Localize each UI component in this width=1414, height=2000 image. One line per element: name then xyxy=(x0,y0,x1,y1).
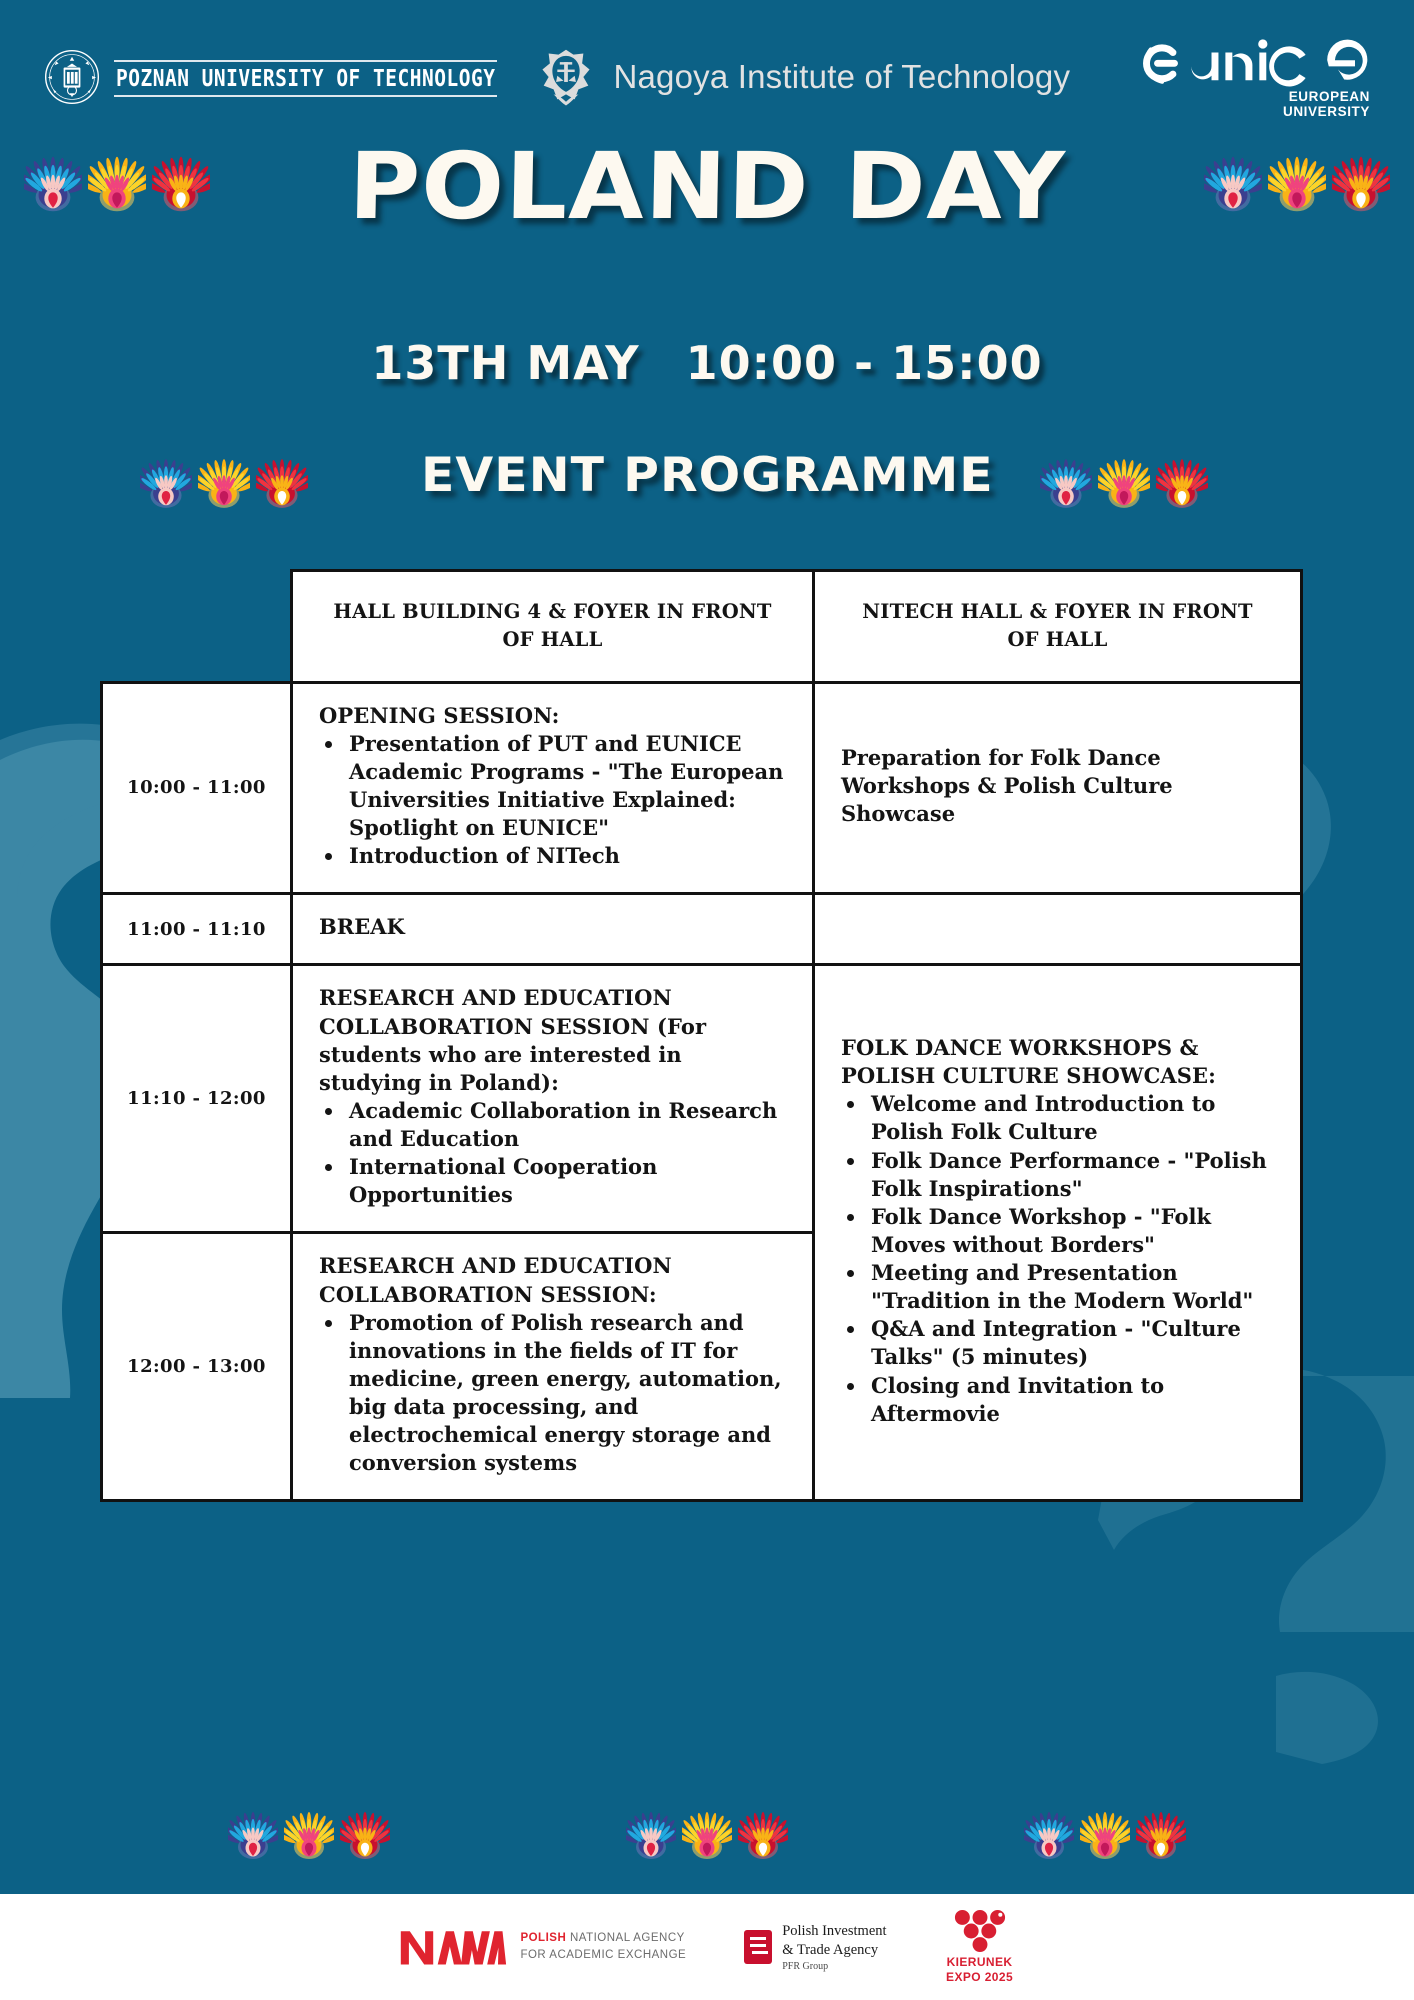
session-cell-nitech-row-3: FOLK DANCE WORKSHOPS & POLISH CULTURE SH… xyxy=(814,965,1302,1501)
expo-label-line-1: KIERUNEK xyxy=(946,1955,1013,1970)
pfr-group-label: PFR Group xyxy=(782,1961,886,1972)
session-cell-hall-4-row-3-heading: RESEARCH AND EDUCATION COLLABORATION SES… xyxy=(319,984,786,1097)
page-title: POLAND DAY xyxy=(348,141,1067,233)
session-cell-hall-4-row-1-bullet-list: Presentation of PUT and EUNICE Academic … xyxy=(345,730,786,871)
eunice-subtitle-line-2: UNIVERSITY xyxy=(1283,105,1370,120)
folk-flower-group-bottom-3 xyxy=(1024,1808,1186,1863)
list-item: Introduction of NITech xyxy=(345,842,786,870)
pfr-name: Polish Investment & Trade Agency xyxy=(782,1922,886,1958)
put-logo-text: POZNAN UNIVERSITY OF TECHNOLOGY xyxy=(114,59,497,98)
session-cell-hall-4-row-2-text: BREAK xyxy=(319,913,786,941)
folk-flower-blue-icon xyxy=(626,1808,676,1863)
folk-flower-yellow-icon xyxy=(284,1808,334,1863)
time-slot-cell: 10:00 - 11:00 xyxy=(102,682,292,894)
nitech-crest-icon xyxy=(535,46,597,108)
programme-table-head: HALL BUILDING 4 & FOYER IN FRONT OF HALL… xyxy=(102,571,1302,683)
logo-kierunek-expo-2025: KIERUNEK EXPO 2025 xyxy=(945,1910,1015,1985)
session-cell-nitech-row-3-bullet-list: Welcome and Introduction to Polish Folk … xyxy=(867,1090,1274,1428)
session-cell-hall-4-row-4-heading: RESEARCH AND EDUCATION COLLABORATION SES… xyxy=(319,1252,786,1308)
hero-subtitle-row: EVENT PROGRAMME xyxy=(0,452,1414,499)
folk-flower-red-icon xyxy=(1136,1808,1186,1863)
pfr-mark-icon xyxy=(744,1930,772,1964)
programme-table: HALL BUILDING 4 & FOYER IN FRONT OF HALL… xyxy=(100,569,1303,1502)
nawa-wordmark-icon xyxy=(399,1925,507,1969)
logo-eunice-european-university: EUROPEAN UNIVERSITY xyxy=(1139,34,1370,119)
nawa-tagline-line-2: FOR ACADEMIC EXCHANGE xyxy=(520,1947,686,1964)
folk-flower-blue-icon xyxy=(1024,1808,1074,1863)
session-cell-hall-4-row-4: RESEARCH AND EDUCATION COLLABORATION SES… xyxy=(292,1233,814,1501)
session-cell-nitech-row-1: Preparation for Folk Dance Workshops & P… xyxy=(814,682,1302,894)
table-row: 10:00 - 11:00OPENING SESSION:Presentatio… xyxy=(102,682,1302,894)
page-subtitle: EVENT PROGRAMME xyxy=(421,452,994,499)
folk-flower-yellow-icon xyxy=(682,1808,732,1863)
list-item: Promotion of Polish research and innovat… xyxy=(345,1309,786,1478)
folk-flower-group-bottom-2 xyxy=(626,1808,788,1863)
pfr-name-line-1: Polish Investment xyxy=(782,1922,886,1940)
session-cell-nitech-row-1-text: Preparation for Folk Dance Workshops & P… xyxy=(841,744,1274,828)
event-date: 13TH MAY xyxy=(371,340,639,386)
session-cell-nitech-row-3-heading: FOLK DANCE WORKSHOPS & POLISH CULTURE SH… xyxy=(841,1034,1274,1090)
expo-label-line-2: EXPO 2025 xyxy=(946,1970,1013,1985)
nawa-tagline-bold: POLISH xyxy=(520,1932,566,1944)
session-cell-hall-4-row-3-bullet-list: Academic Collaboration in Research and E… xyxy=(345,1097,786,1210)
session-cell-hall-4-row-1-heading: OPENING SESSION: xyxy=(319,702,786,730)
table-header-row: HALL BUILDING 4 & FOYER IN FRONT OF HALL… xyxy=(102,571,1302,683)
time-slot-cell: 11:10 - 12:00 xyxy=(102,965,292,1233)
table-header-corner xyxy=(102,571,292,683)
header-logo-bar: POZNAN UNIVERSITY OF TECHNOLOGY Nagoya I… xyxy=(0,34,1414,120)
poster-canvas: POZNAN UNIVERSITY OF TECHNOLOGY Nagoya I… xyxy=(0,0,1414,2000)
event-hours: 10:00 - 15:00 xyxy=(686,340,1043,386)
session-cell-hall-4-row-3: RESEARCH AND EDUCATION COLLABORATION SES… xyxy=(292,965,814,1233)
folk-flower-red-icon xyxy=(340,1808,390,1863)
time-slot-cell: 12:00 - 13:00 xyxy=(102,1233,292,1501)
folk-flower-yellow-icon xyxy=(1080,1808,1130,1863)
folk-flower-group-bottom-1 xyxy=(228,1808,390,1863)
expo-label: KIERUNEK EXPO 2025 xyxy=(946,1955,1013,1985)
column-header-nitech-hall: NITECH HALL & FOYER IN FRONT OF HALL xyxy=(814,571,1302,683)
session-cell-hall-4-row-2: BREAK xyxy=(292,894,814,965)
list-item: Welcome and Introduction to Polish Folk … xyxy=(867,1090,1274,1146)
expo-dots-icon xyxy=(945,1910,1015,1952)
table-row: 11:00 - 11:10BREAK xyxy=(102,894,1302,965)
eunice-subtitle: EUROPEAN UNIVERSITY xyxy=(1283,90,1370,119)
eunice-subtitle-line-1: EUROPEAN xyxy=(1283,90,1370,105)
folk-flower-bottom-band xyxy=(0,1770,1414,1900)
hero-title-row: POLAND DAY xyxy=(0,133,1414,241)
folk-flower-blue-icon xyxy=(228,1808,278,1863)
list-item: Folk Dance Workshop - "Folk Moves withou… xyxy=(867,1203,1274,1259)
list-item: Presentation of PUT and EUNICE Academic … xyxy=(345,730,786,843)
programme-table-body: 10:00 - 11:00OPENING SESSION:Presentatio… xyxy=(102,682,1302,1501)
logo-nawa: POLISH NATIONAL AGENCY FOR ACADEMIC EXCH… xyxy=(399,1925,686,1969)
footer-sponsor-bar: POLISH NATIONAL AGENCY FOR ACADEMIC EXCH… xyxy=(0,1894,1414,2000)
table-row: 11:10 - 12:00RESEARCH AND EDUCATION COLL… xyxy=(102,965,1302,1233)
list-item: Academic Collaboration in Research and E… xyxy=(345,1097,786,1153)
nawa-tagline-rest: NATIONAL AGENCY xyxy=(566,1932,685,1944)
logo-polish-investment-and-trade-agency: Polish Investment & Trade Agency PFR Gro… xyxy=(744,1922,886,1971)
eunice-wordmark xyxy=(1139,34,1370,88)
nawa-tagline: POLISH NATIONAL AGENCY FOR ACADEMIC EXCH… xyxy=(520,1930,686,1963)
logo-poznan-university-of-technology: POZNAN UNIVERSITY OF TECHNOLOGY xyxy=(44,49,497,105)
folk-flower-red-icon xyxy=(738,1808,788,1863)
list-item: Q&A and Integration - "Culture Talks" (5… xyxy=(867,1315,1274,1371)
time-slot-cell: 11:00 - 11:10 xyxy=(102,894,292,965)
put-seal-icon xyxy=(44,49,100,105)
hero-date-row: 13TH MAY 10:00 - 15:00 xyxy=(0,340,1414,386)
logo-nagoya-institute-of-technology: Nagoya Institute of Technology xyxy=(535,46,1070,108)
nawa-tagline-line-1: POLISH NATIONAL AGENCY xyxy=(520,1930,686,1947)
list-item: Closing and Invitation to Aftermovie xyxy=(867,1372,1274,1428)
list-item: Meeting and Presentation "Tradition in t… xyxy=(867,1259,1274,1315)
nitech-logo-text: Nagoya Institute of Technology xyxy=(613,58,1070,96)
list-item: Folk Dance Performance - "Polish Folk In… xyxy=(867,1147,1274,1203)
session-cell-hall-4-row-4-bullet-list: Promotion of Polish research and innovat… xyxy=(345,1309,786,1478)
session-cell-hall-4-row-1: OPENING SESSION:Presentation of PUT and … xyxy=(292,682,814,894)
session-cell-nitech-row-2 xyxy=(814,894,1302,965)
column-header-hall-building-4: HALL BUILDING 4 & FOYER IN FRONT OF HALL xyxy=(292,571,814,683)
list-item: International Cooperation Opportunities xyxy=(345,1153,786,1209)
pfr-name-line-2: & Trade Agency xyxy=(782,1941,886,1959)
